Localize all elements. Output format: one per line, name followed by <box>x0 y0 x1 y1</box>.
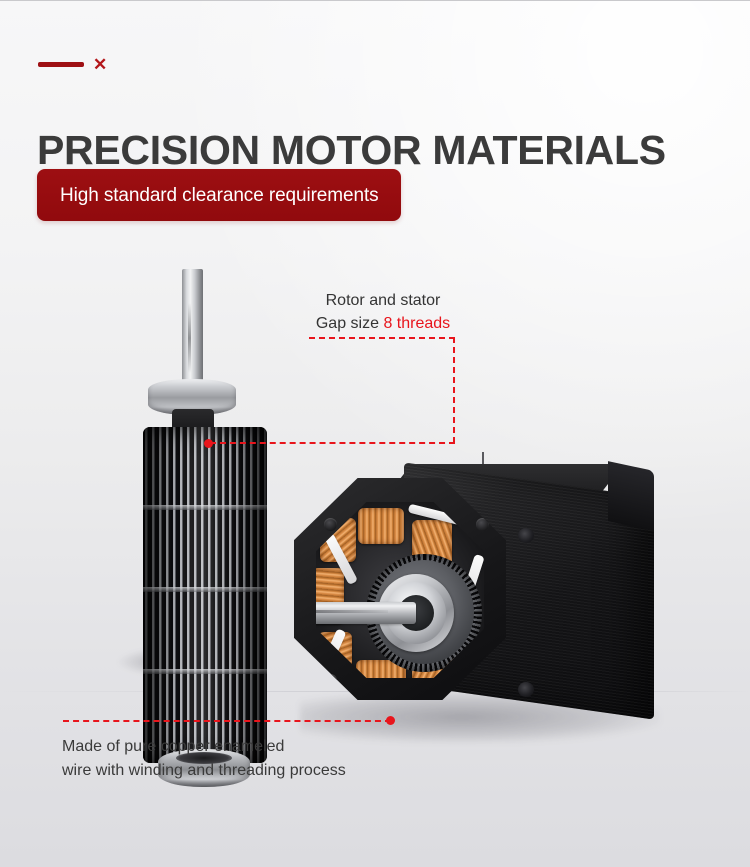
gap-annotation: Rotor and stator Gap size 8 threads <box>308 289 458 335</box>
wire-annotation-line2: wire with winding and threading process <box>62 759 346 783</box>
insulation-spacer <box>368 686 425 704</box>
gap-callout-line-bottom <box>210 442 455 444</box>
copper-winding <box>358 508 404 544</box>
product-feature-banner: ✕ PRECISION MOTOR MATERIALS High standar… <box>0 0 750 867</box>
motor-output-shaft <box>300 602 416 624</box>
gap-callout-line-top <box>309 337 455 339</box>
motor-mount-hole <box>518 528 534 543</box>
wire-callout-line <box>63 720 391 722</box>
stator-core-cavity <box>316 502 484 678</box>
gap-annotation-prefix: Gap size <box>316 315 384 332</box>
gap-callout-line-right <box>453 337 455 443</box>
wire-annotation-line1: Made of pure copper enameled <box>62 735 346 759</box>
wire-callout-anchor-dot <box>386 716 395 725</box>
gap-annotation-line1: Rotor and stator <box>308 289 458 312</box>
shaft-end-face <box>298 602 310 624</box>
gap-annotation-line2: Gap size 8 threads <box>308 312 458 335</box>
stator-screw <box>324 674 337 687</box>
rotor-laminated-core <box>143 427 267 763</box>
motor-mount-hole <box>518 682 534 697</box>
rotor-shaft <box>182 269 203 391</box>
motor-rear-corner <box>608 461 654 531</box>
gap-callout-anchor-dot <box>204 439 213 448</box>
gap-annotation-value: 8 threads <box>383 315 450 332</box>
motor-stator-assembly <box>286 456 686 756</box>
motor-rotor <box>140 269 270 669</box>
stator-front-face <box>294 478 506 700</box>
wire-annotation: Made of pure copper enameled wire with w… <box>62 735 346 783</box>
stator-screw <box>324 518 337 531</box>
